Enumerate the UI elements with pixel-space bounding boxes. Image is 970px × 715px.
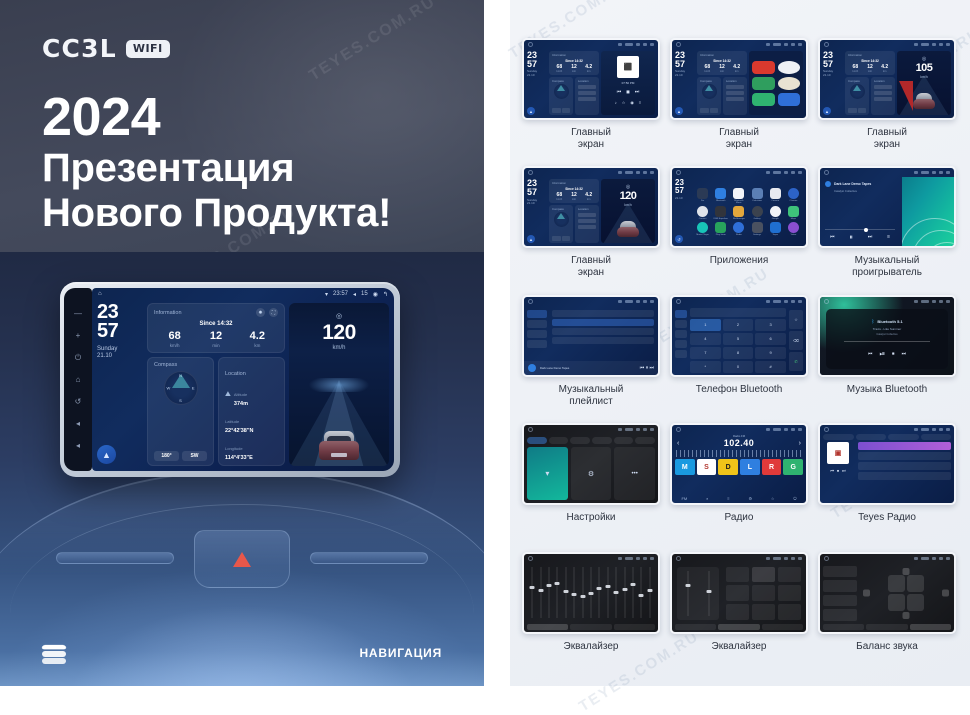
dialpad-key[interactable]: 4 [690,333,721,345]
compass-title: Compass [154,362,207,368]
gallery-caption: Настройки [566,512,615,524]
player-artist: Catalyst Collective [834,189,895,193]
presentation-slide: TEYES.COM.RU TEYES.COM.RU TEYES.COM.RU C… [0,0,970,686]
latitude-row: Latitude 22°42'38"N [225,410,278,434]
speed-widget[interactable]: ◎ 120 km/h [289,303,389,466]
location-card[interactable]: Location ⛰ Altitude 374m [218,357,285,466]
thumbnail-equalizer-simple[interactable] [670,552,808,634]
search-icon[interactable]: ⌕ [706,496,708,501]
list-item[interactable] [552,328,654,335]
equalizer-tabs[interactable] [672,624,806,632]
thumbnail-home-speed2[interactable]: 2357Sunday21.10▲ InformationSince 14:32 … [522,166,660,248]
thumbnail-bluetooth-phone[interactable]: 1 2 3 4 5 6 7 8 9 * 0 # [670,295,808,377]
clock-day: Sunday [97,346,143,354]
eq-slider[interactable] [613,567,619,618]
thumbnail-sound-balance[interactable] [818,552,956,634]
stat-unit: min [195,343,236,348]
preset-button[interactable]: G [783,459,803,475]
gallery-item[interactable]: Dark Lane Demo Tapes Catalyst Collective… [818,166,956,286]
balance-preset[interactable] [823,566,857,578]
gallery-caption: Teyes Радио [858,512,916,524]
previous-icon[interactable]: ⏮ [830,234,835,242]
minus-icon[interactable]: — [74,309,83,318]
dialpad-key[interactable]: 9 [755,347,786,359]
speed-icon: ◎ [336,312,342,320]
mountain-icon: ⛰ [225,391,231,399]
gallery-item[interactable]: Эквалайзер [670,552,808,672]
pause-icon[interactable]: ⏸ [849,234,853,242]
eq-slider[interactable] [546,567,552,618]
watermark: TEYES.COM.RU [306,0,439,85]
compass-direction: SW [182,451,207,461]
gallery-caption: Телефон Bluetooth [696,384,783,396]
thumbnail-music-player[interactable]: Dark Lane Demo Tapes Catalyst Collective… [818,166,956,248]
dialpad-key[interactable]: 5 [723,333,754,345]
eq-slider[interactable] [630,567,636,618]
gallery-item[interactable]: 2357Sunday21.10▲ InformationSince 14:32 … [522,38,660,158]
previous-icon[interactable]: ⏮ [830,468,834,473]
radio-frequency: 102.40 [683,438,794,448]
head-unit-button-strip[interactable]: — + ⏻ ⌂ ↺ ◂ ◂ [64,288,92,471]
bluetooth-artist: Catalyst Collective [876,333,897,336]
gallery-caption: Музыкальный проигрыватель [852,255,922,279]
eq-tab[interactable] [718,624,759,630]
gallery-row: Dark Lane Demo Tapes ⏮ ⏸ ⏭ Музыкальный п… [522,295,956,415]
balance-presets[interactable] [823,566,857,621]
star-icon[interactable]: ☆ [771,496,775,501]
app-icon-item[interactable]: DSR Equalizer [713,206,728,220]
settings-tiles[interactable]: ▾ ⚙ ••• [524,447,658,503]
information-card[interactable]: Information ✸ ⛶ Since 14:32 68 [147,303,285,353]
gallery-caption: Эквалайзер [712,641,767,653]
gallery-caption: Главный экран [719,127,759,151]
longitude-label: Longitude [225,446,243,451]
eq-slider[interactable] [563,567,569,618]
car-dashboard: — + ⏻ ⌂ ↺ ◂ ◂ ⌂ ▾ 23:57 ◂ 15 [0,252,484,686]
eq-slider[interactable] [571,567,577,618]
more-tile[interactable]: ••• [614,447,655,500]
list-item[interactable] [858,442,951,450]
gallery-item[interactable]: Radio FM ‹ 102.40 › M S D L R G [670,423,808,543]
app-icon-item[interactable]: Video [786,222,801,236]
list-icon[interactable]: ≡ [727,496,729,501]
gallery-caption: Радио [725,512,754,524]
dialpad-key[interactable]: # [755,361,786,373]
volume-up-icon[interactable]: ◂ [74,441,83,450]
home-icon[interactable]: ⌂ [74,375,83,384]
favorite-icon[interactable]: ☆ [789,310,803,329]
prev-station-icon[interactable]: ‹ [677,440,679,447]
hero-panel: TEYES.COM.RU TEYES.COM.RU TEYES.COM.RU C… [0,0,484,686]
balance-controls[interactable] [820,563,954,624]
app-icon-item[interactable]: Maps [786,206,801,220]
gallery-row: Эквалайзер [522,552,956,672]
bluetooth-icon: ᛒ [871,319,874,325]
altitude-value: 374m [234,401,248,407]
app-icon-item[interactable]: FileManager [731,206,746,220]
layers-icon [42,644,66,664]
app-icon-item[interactable]: Play Store [713,222,728,236]
compass-card[interactable]: Compass N E S W 180° [147,357,214,466]
radio-presets[interactable]: M S D L R G [672,459,806,475]
thumbnail-app-grid[interactable]: 235721.10↺ Dvr Bluetooth Bluetooth Music… [670,166,808,248]
gallery-item[interactable]: Dark Lane Demo Tapes ⏮ ⏸ ⏭ Музыкальный п… [522,295,660,415]
stat-value: 4.2 [237,330,278,342]
gallery-caption: Главный экран [867,127,907,151]
eq-preset[interactable] [752,567,775,583]
air-vent-left [56,552,174,564]
gallery-caption: Приложения [710,255,769,267]
volume-icon[interactable]: ◂ [353,291,356,298]
page-title: 2024 Презентация Нового Продукта! [42,88,391,236]
screenshot-icon[interactable]: ◉ [373,291,378,298]
information-card-header: Information ✸ ⛶ [154,308,278,317]
playlist-sidebar[interactable] [526,308,548,359]
power-icon[interactable]: ⏻ [74,353,83,362]
gallery-item[interactable]: 1 2 3 4 5 6 7 8 9 * 0 # [670,295,808,415]
list-item[interactable] [858,472,951,480]
app-icon-item[interactable]: Contact [695,206,710,220]
dialpad[interactable]: 1 2 3 4 5 6 7 8 9 * 0 # [690,319,786,373]
eq-slider[interactable] [537,567,543,618]
compass-east-label: E [192,386,195,391]
preset-button[interactable]: D [718,459,738,475]
preset-button[interactable]: R [762,459,782,475]
eq-tab[interactable] [527,624,568,630]
information-since: Since 14:32 [154,321,278,327]
phone-action-column[interactable]: ☆ ⌫ ✆ [788,308,804,373]
app-icon-item[interactable]: Settings [750,222,765,236]
panel-divider [484,0,510,686]
eq-slider[interactable] [596,567,602,618]
compass-north-label: N [179,373,182,378]
avatar[interactable]: ▲ [97,445,116,464]
app-icon-item[interactable]: Chrome [786,188,801,204]
hero-title-line2: Нового Продукта! [42,191,391,236]
app-icon-item[interactable]: Camera [768,188,783,204]
app-icon-item[interactable]: Music Player [695,222,710,236]
wifi-icon: ▾ [545,469,549,478]
balance-pad[interactable] [861,566,951,621]
phone-sidebar[interactable] [674,308,688,373]
equalizer-tabs[interactable] [524,624,658,632]
next-icon[interactable]: ⏭ [868,234,873,242]
balance-down-arrow[interactable] [903,612,910,619]
hero-year: 2024 [42,88,391,146]
thumbnail-teyes-radio[interactable]: ▣ ⏮ ⏹ ⏭ [818,423,956,505]
backspace-icon[interactable]: ⌫ [789,331,803,350]
eq-slider[interactable] [605,567,611,618]
information-stats: 68 km/h 12 min 4.2 km [154,330,278,348]
app-icon-item[interactable]: Teyes [768,222,783,236]
status-bar: ⌂ ▾ 23:57 ◂ 15 ◉ ↰ [92,288,394,300]
balance-left-arrow[interactable] [863,590,870,597]
gallery-caption: Главный экран [571,127,611,151]
expand-icon[interactable]: ⛶ [269,308,278,317]
eq-preset[interactable] [752,604,775,620]
home-screen: 23 57 Sunday 21.10 ▲ Information [92,300,394,471]
speaker-grid [888,575,924,611]
hero-footer: НАВИГАЦИЯ [0,622,484,686]
altitude-label: Altitude [234,392,247,397]
hazard-button[interactable] [194,530,290,588]
app-icon-item[interactable]: Dvr [695,188,710,204]
eq-slider[interactable] [529,567,535,618]
eq-slider[interactable] [588,567,594,618]
gallery-row: 2357Sunday21.10▲ InformationSince 14:32 … [522,38,956,158]
thumbnail-bluetooth-music[interactable]: ᛒ Bluetooth 5.1 Travis - Like Summer Cat… [818,295,956,377]
previous-icon[interactable]: ⏮ [868,351,873,359]
speed-unit: km/h [289,345,389,351]
stat-unit: km/h [154,343,195,348]
settings-tab[interactable] [614,437,634,444]
compass-south-label: S [179,398,182,403]
compass-west-label: W [167,386,171,391]
stat-item: 4.2 km [237,330,278,348]
thumbnail-speed-value: 105 [897,62,951,74]
hero-title-line1: Презентация [42,146,391,191]
home-icon[interactable]: ⌂ [98,291,102,297]
player-track: Dark Lane Demo Tapes [834,182,871,186]
gallery-caption: Баланс звука [856,641,918,653]
eq-preset[interactable] [726,585,749,601]
product-logo: CC3L WIFI [42,34,170,63]
stat-value: 68 [154,330,195,342]
eq-preset[interactable] [726,567,749,583]
preset-button[interactable]: L [740,459,760,475]
altitude-row: ⛰ Altitude 374m [225,383,278,407]
balance-tabs[interactable] [820,624,954,632]
radio-tuning-scale[interactable] [676,450,802,457]
settings-tab[interactable] [549,437,569,444]
preset-button[interactable]: M [675,459,695,475]
clock-date: 21.10 [97,353,143,361]
thumbnail-home-media[interactable]: 2357Sunday21.10▲ InformationSince 14:32 … [522,38,660,120]
band-button[interactable]: FM [681,496,687,501]
gallery-item[interactable]: 235721.10↺ Dvr Bluetooth Bluetooth Music… [670,166,808,286]
eq-tab[interactable] [614,624,655,630]
balance-tab[interactable] [910,624,951,630]
thumbnail-speed-value: 120 [601,190,655,202]
thumbnail-radio[interactable]: Radio FM ‹ 102.40 › M S D L R G [670,423,808,505]
gallery-caption: Эквалайзер [564,641,619,653]
list-icon[interactable]: ≡ [887,234,890,242]
clock-widget[interactable]: 23 57 Sunday 21.10 ▲ [97,303,143,466]
clock-hours: 23 [97,303,143,322]
car-icon: ⚙ [588,470,594,478]
thumbnail-home-apps[interactable]: 2357Sunday21.10▲ InformationSince 14:32 … [670,38,808,120]
next-station-icon[interactable]: › [799,440,801,447]
stat-value: 12 [195,330,236,342]
next-icon[interactable]: ⏭ [842,468,846,473]
app-icon-item[interactable]: Calculator [750,188,765,204]
gallery-caption: Музыка Bluetooth [847,384,927,396]
back-icon[interactable]: ↰ [383,291,388,298]
list-item[interactable] [552,310,654,317]
dialpad-key[interactable]: 6 [755,333,786,345]
balance-preset[interactable] [823,609,857,621]
list-item[interactable] [858,462,951,470]
playlist-track-list[interactable] [550,308,656,359]
screenshot-gallery: TEYES.COM.RU TEYES.COM.RU TEYES.COM.RU T… [510,0,970,686]
list-item[interactable] [552,319,654,326]
call-icon[interactable]: ✆ [789,352,803,371]
settings-tab[interactable] [570,437,590,444]
balance-preset[interactable] [823,580,857,592]
list-item[interactable] [858,452,951,460]
balance-right-arrow[interactable] [942,590,949,597]
gallery-item[interactable]: Эквалайзер [522,552,660,672]
power-icon[interactable]: ⏻ [793,496,796,501]
carplay-tile[interactable]: ⚙ [571,447,612,500]
speed-value: 120 [289,321,389,345]
status-time: 23:57 [333,291,348,297]
bluetooth-device-name: Bluetooth 5.1 [877,319,902,324]
dialpad-key[interactable]: * [690,361,721,373]
list-item[interactable] [552,337,654,344]
dialpad-key[interactable]: 1 [690,319,721,331]
gallery-item[interactable]: 2357Sunday21.10▲ InformationSince 14:32 … [818,38,956,158]
app-icon-item[interactable]: Google [768,206,783,220]
gallery-caption: Главный экран [571,255,611,279]
app-icon-item[interactable]: Bluetooth [713,188,728,204]
widgets-column: Information ✸ ⛶ Since 14:32 68 [147,303,285,466]
air-vent-right [310,552,428,564]
gallery-caption: Музыкальный плейлист [559,384,624,408]
play-pause-icon[interactable]: ⏯ [879,351,885,359]
status-volume: 15 [361,291,368,297]
logo-text: CC3L [42,34,117,63]
equalizer-bands[interactable] [524,563,658,624]
thumbnail-home-speed[interactable]: 2357Sunday21.10▲ InformationSince 14:32 … [818,38,956,120]
settings-gear-icon[interactable]: ✸ [256,308,265,317]
eq-slider[interactable] [638,567,644,618]
eq-slider[interactable] [647,567,653,618]
settings-tabs[interactable] [524,434,658,447]
longitude-row: Longitude 114°4'33"E [225,437,278,461]
settings-tab[interactable] [635,437,655,444]
volume-down-icon[interactable]: ◂ [74,419,83,428]
gallery-item[interactable]: ᛒ Bluetooth 5.1 Travis - Like Summer Cat… [818,295,956,415]
location-title: Location [225,371,246,377]
thumbnail-playlist[interactable]: Dark Lane Demo Tapes ⏮ ⏸ ⏭ [522,295,660,377]
eq-tab[interactable] [675,624,716,630]
car-illustration [319,430,359,460]
eq-slider[interactable] [684,571,692,616]
balance-tab[interactable] [823,624,864,630]
preset-button[interactable]: S [697,459,717,475]
gallery-item[interactable]: Баланс звука [818,552,956,672]
balance-up-arrow[interactable] [903,568,910,575]
balance-preset[interactable] [823,595,857,607]
compass-dial: N E S W [164,371,198,405]
dialpad-key[interactable]: 3 [755,319,786,331]
head-unit: — + ⏻ ⌂ ↺ ◂ ◂ ⌂ ▾ 23:57 ◂ 15 [60,282,400,477]
back-icon[interactable]: ↺ [74,397,83,406]
thumbnail-settings[interactable]: ▾ ⚙ ••• [522,423,660,505]
next-icon[interactable]: ⏭ [902,351,907,359]
more-icon: ••• [632,471,638,477]
eq-presets[interactable] [721,567,801,620]
wifi-icon[interactable]: ▾ [325,291,328,298]
eq-slider[interactable] [554,567,560,618]
app-icon-item[interactable]: Bluetooth Music [731,188,746,204]
eq-preset[interactable] [778,567,801,583]
eq-tab[interactable] [570,624,611,630]
wifi-tile[interactable]: ▾ [527,447,568,500]
hazard-triangle-icon [233,552,251,567]
stat-item: 68 km/h [154,330,195,348]
stat-unit: km [237,343,278,348]
eq-preset[interactable] [778,604,801,620]
information-actions[interactable]: ✸ ⛶ [256,308,278,317]
eq-preset[interactable] [726,604,749,620]
dialpad-key[interactable]: 8 [723,347,754,359]
balance-tab[interactable] [866,624,907,630]
eq-tab[interactable] [762,624,803,630]
head-unit-screen: ⌂ ▾ 23:57 ◂ 15 ◉ ↰ 23 57 Sunday [92,288,394,471]
settings-tab[interactable] [592,437,612,444]
eq-icon[interactable]: ⚙ [748,496,752,501]
eq-slider[interactable] [705,571,713,616]
gallery-row: 2357Sunday21.10▲ InformationSince 14:32 … [522,166,956,286]
longitude-value: 114°4'33"E [225,455,278,461]
clock-minutes: 57 [97,322,143,341]
stop-icon[interactable]: ⏹ [837,468,839,473]
gallery-row: ▾ ⚙ ••• Настройки Radio FM [522,423,956,543]
dialpad-key[interactable]: 2 [723,319,754,331]
app-icon-item[interactable]: Gallery [750,206,765,220]
gallery-item[interactable]: ▾ ⚙ ••• Настройки [522,423,660,543]
eq-preset[interactable] [752,585,775,601]
wifi-badge: WIFI [126,40,170,58]
thumbnail-equalizer-bands[interactable] [522,552,660,634]
information-title: Information [154,310,182,316]
compass-heading: 180° [154,451,179,461]
dialpad-key[interactable]: 0 [723,361,754,373]
bluetooth-track: Travis - Like Summer [873,327,901,331]
gallery-item[interactable]: 2357Sunday21.10▲ InformationSince 14:32 … [522,166,660,286]
gallery-item[interactable]: ▣ ⏮ ⏹ ⏭ [818,423,956,543]
dialpad-key[interactable]: 7 [690,347,721,359]
app-icon-item[interactable]: Radio [731,222,746,236]
latitude-label: Latitude [225,419,239,424]
lower-widgets-row: Compass N E S W 180° [147,357,285,466]
stop-icon[interactable]: ⏹ [892,351,895,359]
eq-slider[interactable] [579,567,585,618]
latitude-value: 22°42'38"N [225,428,278,434]
stat-item: 12 min [195,330,236,348]
compass-values: 180° SW [154,451,207,461]
plus-icon[interactable]: + [74,331,83,340]
eq-slider[interactable] [621,567,627,618]
gallery-item[interactable]: 2357Sunday21.10▲ InformationSince 14:32 … [670,38,808,158]
app-grid[interactable]: Dvr Bluetooth Bluetooth Music Calculator… [693,179,803,243]
settings-tab[interactable] [527,437,547,444]
eq-preset[interactable] [778,585,801,601]
navigation-label: НАВИГАЦИЯ [359,646,442,660]
